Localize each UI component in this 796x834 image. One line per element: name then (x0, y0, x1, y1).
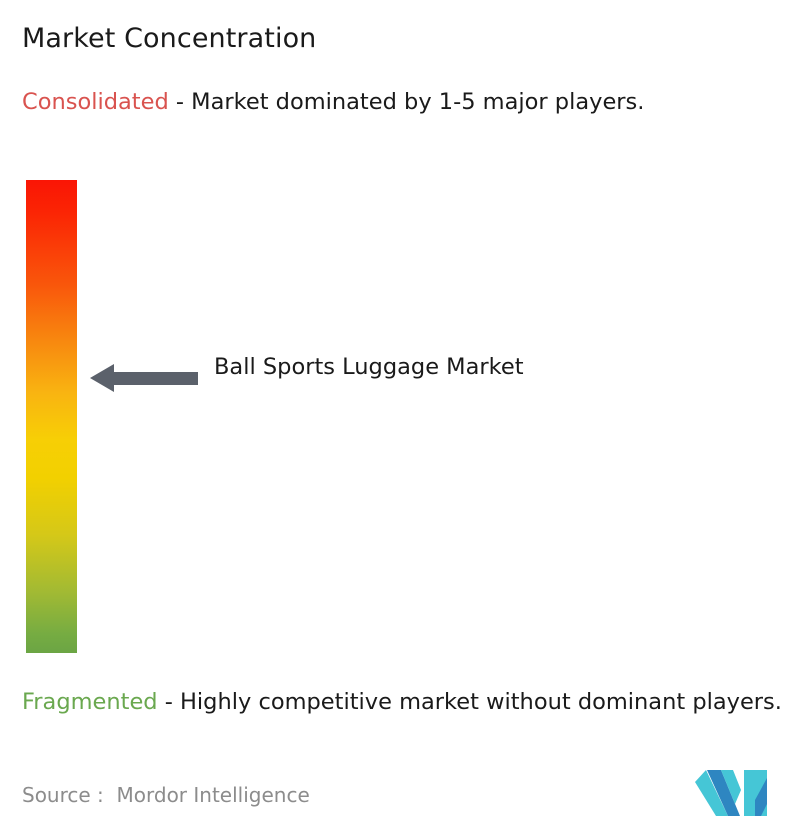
legend-consolidated-description: - Market dominated by 1-5 major players. (169, 89, 645, 115)
mordor-logo-icon (695, 770, 767, 816)
legend-consolidated: Consolidated - Market dominated by 1-5 m… (22, 86, 774, 119)
mordor-intelligence-logo (695, 770, 767, 816)
legend-fragmented-term: Fragmented (22, 689, 158, 715)
legend-consolidated-term: Consolidated (22, 89, 169, 115)
legend-fragmented: Fragmented - Highly competitive market w… (22, 686, 782, 719)
page-title: Market Concentration (22, 22, 316, 56)
left-arrow-icon (90, 363, 198, 393)
source-label: Source : (22, 783, 104, 807)
callout-arrow-icon (90, 363, 198, 393)
legend-fragmented-description: - Highly competitive market without domi… (158, 689, 782, 715)
source-value: Mordor Intelligence (117, 783, 310, 807)
market-concentration-gradient-bar (26, 180, 77, 653)
callout-label: Ball Sports Luggage Market (214, 350, 544, 385)
source-line: Source : Mordor Intelligence (22, 782, 310, 808)
